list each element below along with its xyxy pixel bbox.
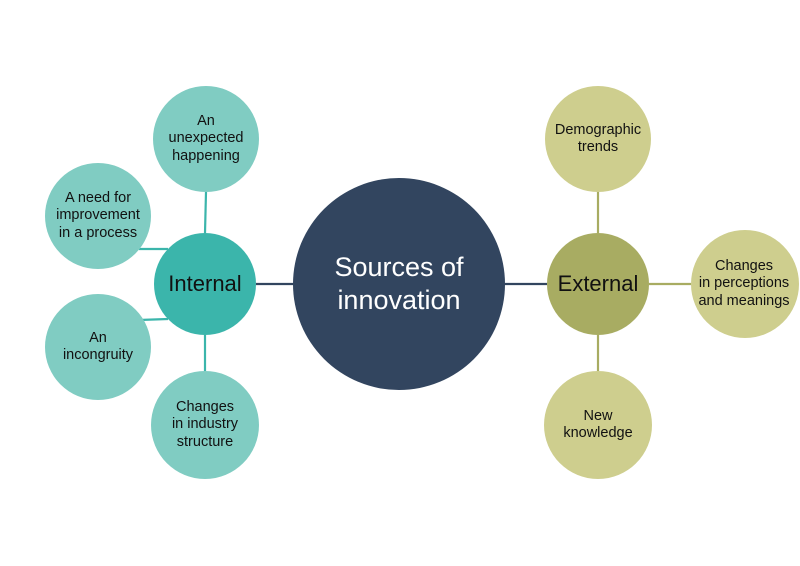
node-new-knowledge[interactable] xyxy=(544,371,652,479)
node-internal[interactable] xyxy=(154,233,256,335)
node-need-for-improvement[interactable] xyxy=(45,163,151,269)
node-an-incongruity[interactable] xyxy=(45,294,151,400)
connector-internal-unexpected-happening xyxy=(205,192,206,233)
diagram-canvas: Sources of innovation Internal External … xyxy=(0,0,800,566)
node-unexpected-happening[interactable] xyxy=(153,86,259,192)
node-changes-perceptions-meanings[interactable] xyxy=(691,230,799,338)
node-external[interactable] xyxy=(547,233,649,335)
node-changes-industry-structure[interactable] xyxy=(151,371,259,479)
diagram-svg xyxy=(0,0,800,566)
node-demographic-trends[interactable] xyxy=(545,86,651,192)
node-sources-of-innovation[interactable] xyxy=(293,178,505,390)
